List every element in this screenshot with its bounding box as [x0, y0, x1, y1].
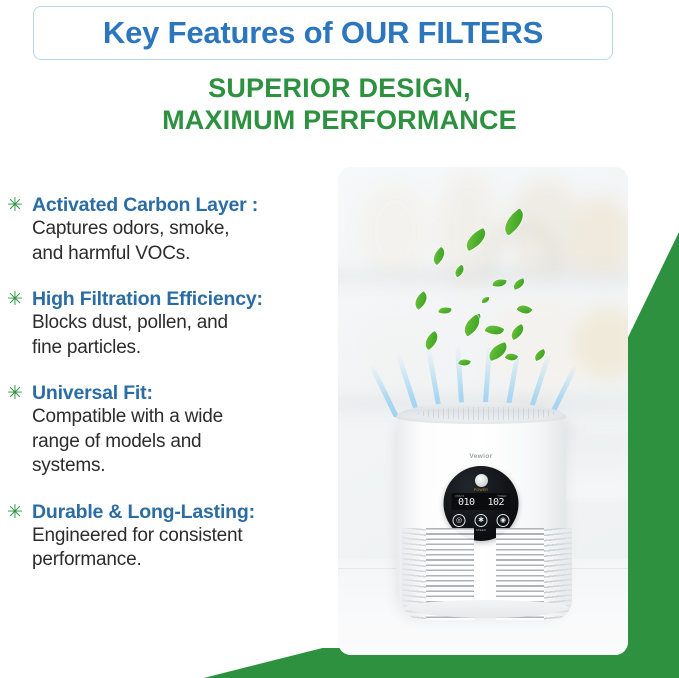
- fan-speed-icon: ✱: [475, 514, 488, 527]
- feature-title: High Filtration Efficiency:: [32, 287, 331, 311]
- infographic-root: Key Features of OUR FILTERS SUPERIOR DES…: [0, 0, 679, 678]
- asterisk-bullet-icon: ✳: [6, 291, 24, 309]
- feature-list: ✳ Activated Carbon Layer : Captures odor…: [6, 193, 331, 573]
- display-readings: 010 102: [452, 497, 511, 509]
- feature-description-line: and harmful VOCs.: [32, 242, 331, 267]
- power-button-icon[interactable]: [475, 474, 488, 487]
- page-title-light: Key Features of: [103, 15, 341, 50]
- feature-item: ✳ High Filtration Efficiency: Blocks dus…: [6, 287, 331, 360]
- feature-description-line: range of models and: [32, 430, 331, 455]
- product-image-panel: Vewior POWER PM2.5 TIMER 010 102: [338, 167, 628, 655]
- power-label: POWER: [474, 488, 488, 492]
- reading-right: 102: [487, 497, 504, 509]
- subtitle-line-2: MAXIMUM PERFORMANCE: [0, 104, 679, 136]
- feature-title: Universal Fit:: [32, 381, 331, 405]
- asterisk-bullet-icon: ✳: [6, 504, 24, 522]
- subtitle: SUPERIOR DESIGN, MAXIMUM PERFORMANCE: [0, 72, 679, 136]
- background-shape: [360, 185, 430, 277]
- feature-description-line: Captures odors, smoke,: [32, 217, 331, 242]
- asterisk-bullet-icon: ✳: [6, 197, 24, 215]
- title-box: Key Features of OUR FILTERS: [33, 6, 613, 60]
- background-shape: [570, 197, 628, 281]
- green-accent-right: [620, 232, 679, 652]
- timer-icon: ◉: [497, 514, 510, 527]
- feature-item: ✳ Activated Carbon Layer : Captures odor…: [6, 193, 331, 266]
- top-vent-slats: [418, 407, 556, 420]
- feature-item: ✳ Universal Fit: Compatible with a wide …: [6, 381, 331, 479]
- brand-logo: Vewior: [396, 453, 566, 460]
- feature-title: Durable & Long-Lasting:: [32, 500, 331, 524]
- auto-icon: ◎: [453, 514, 466, 527]
- feature-description-line: Compatible with a wide: [32, 405, 331, 430]
- asterisk-bullet-icon: ✳: [6, 385, 24, 403]
- feature-item: ✳ Durable & Long-Lasting: Engineered for…: [6, 500, 331, 573]
- purifier-top-vent: [396, 402, 566, 424]
- page-title-bold: OUR FILTERS: [341, 15, 543, 50]
- display-screen: PM2.5 TIMER 010 102: [452, 493, 511, 510]
- subtitle-line-1: SUPERIOR DESIGN,: [0, 72, 679, 104]
- air-purifier-device: Vewior POWER PM2.5 TIMER 010 102: [390, 402, 572, 624]
- feature-description-line: fine particles.: [32, 336, 331, 361]
- feature-description-line: performance.: [32, 548, 331, 573]
- feature-description-line: Engineered for consistent: [32, 524, 331, 549]
- feature-description-line: systems.: [32, 454, 331, 479]
- page-title: Key Features of OUR FILTERS: [103, 15, 543, 51]
- reading-left: 010: [458, 497, 475, 509]
- background-shelf: [338, 272, 628, 281]
- feature-title: Activated Carbon Layer :: [32, 193, 331, 217]
- purifier-body: Vewior POWER PM2.5 TIMER 010 102: [396, 413, 566, 613]
- feature-description-line: Blocks dust, pollen, and: [32, 311, 331, 336]
